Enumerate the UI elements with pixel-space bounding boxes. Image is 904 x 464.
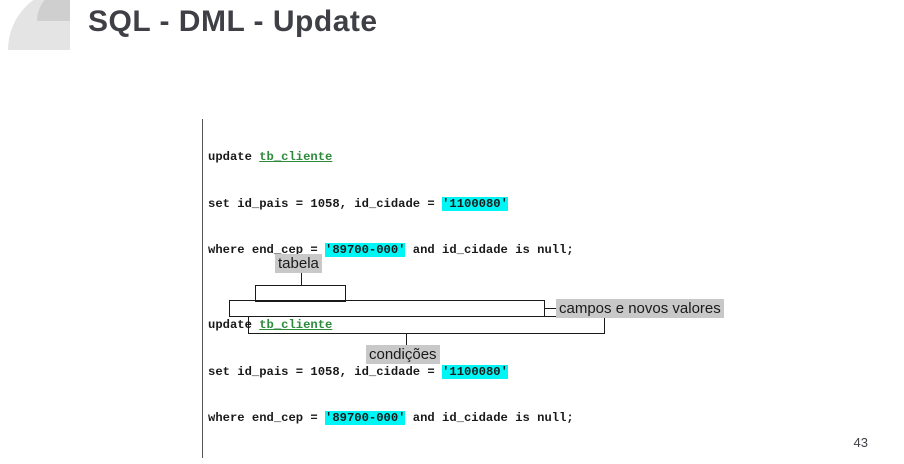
where-value-highlight: '89700-000': [325, 243, 405, 257]
keyword-where: where: [208, 243, 252, 257]
keyword-update: update: [208, 318, 259, 332]
table-name: tb_cliente: [259, 150, 332, 164]
connector-line-table: [301, 273, 302, 286]
keyword-set: set: [208, 197, 237, 211]
statement-terminator: ;: [566, 411, 573, 425]
set-assignments: id_pais = 1058, id_cidade =: [237, 197, 442, 211]
where-field: end_cep =: [252, 411, 325, 425]
where-tail: and id_cidade is null;: [405, 243, 573, 257]
where-tail: and id_cidade is null: [405, 411, 566, 425]
code-line-update: update tb_cliente: [208, 150, 574, 166]
slide: SQL - DML - Update update tb_cliente set…: [0, 0, 904, 464]
code-line-set: set id_pais = 1058, id_cidade = '1100080…: [208, 197, 574, 213]
where-value-highlight: '89700-000': [325, 411, 405, 425]
table-name: tb_cliente: [259, 318, 332, 332]
keyword-set: set: [208, 365, 237, 379]
sql-code-block-annotated: update tb_cliente set id_pais = 1058, id…: [202, 287, 574, 458]
code-line-where: where end_cep = '89700-000' and id_cidad…: [208, 411, 574, 427]
keyword-update: update: [208, 150, 259, 164]
quarter-circle-logo-icon: [8, 0, 70, 50]
set-value-highlight: '1100080': [442, 365, 508, 379]
set-value-highlight: '1100080': [442, 197, 508, 211]
code-line-update: update tb_cliente: [208, 318, 574, 334]
set-assignments: id_pais = 1058, id_cidade =: [237, 365, 442, 379]
keyword-where: where: [208, 411, 252, 425]
annotation-label-fields: campos e novos valores: [556, 299, 724, 318]
code-line-set: set id_pais = 1058, id_cidade = '1100080…: [208, 365, 574, 381]
page-title: SQL - DML - Update: [88, 5, 378, 39]
page-number: 43: [854, 435, 868, 450]
annotation-label-table: tabela: [275, 254, 322, 273]
code-line-where: where end_cep = '89700-000' and id_cidad…: [208, 243, 574, 259]
sql-code-block-plain: update tb_cliente set id_pais = 1058, id…: [202, 119, 574, 290]
annotation-label-conditions: condições: [366, 345, 440, 364]
